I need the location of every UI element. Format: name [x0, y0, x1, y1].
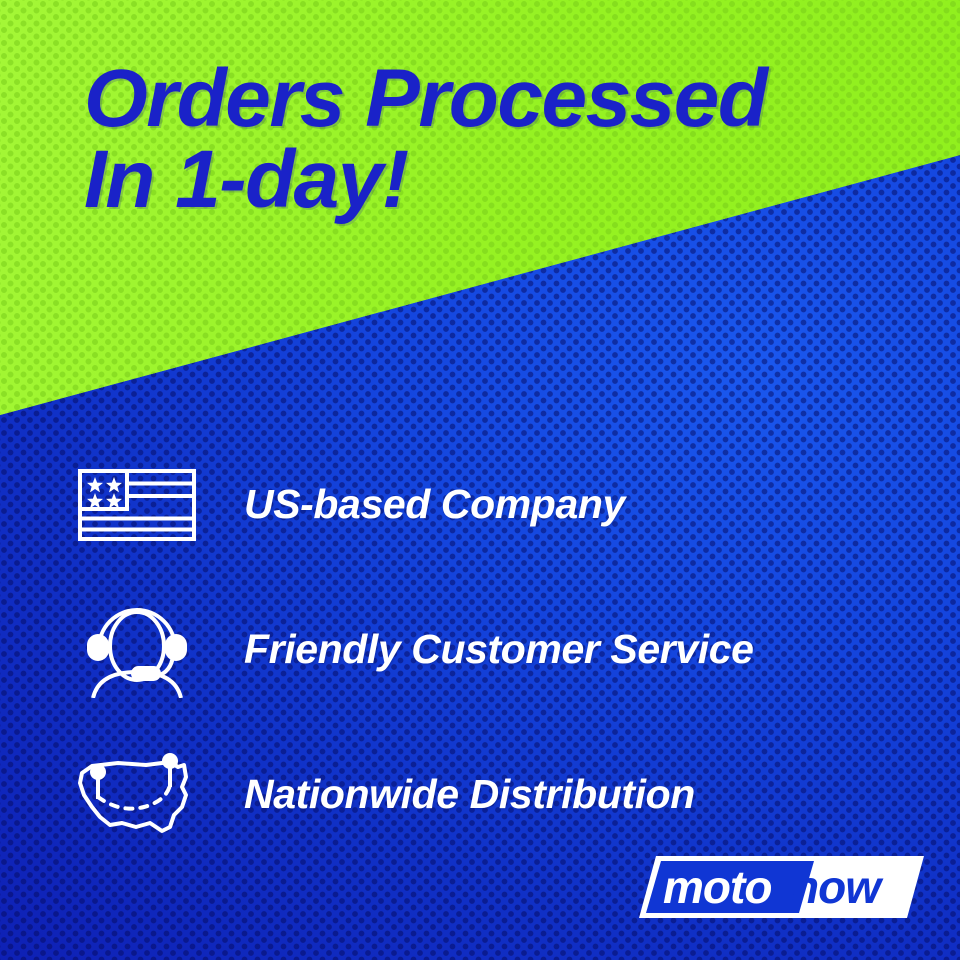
headset-icon	[74, 602, 200, 698]
feature-row: Friendly Customer Service	[0, 577, 960, 722]
us-map-pins-icon	[74, 753, 200, 837]
promo-banner: Orders Processed In 1-day!	[0, 0, 960, 960]
feature-label: US-based Company	[244, 481, 625, 528]
us-flag-icon	[74, 469, 200, 541]
headline: Orders Processed In 1-day!	[84, 58, 914, 220]
feature-label: Friendly Customer Service	[244, 626, 754, 673]
feature-row: Nationwide Distribution	[0, 722, 960, 867]
svg-text:moto: moto	[663, 861, 771, 913]
svg-text:now: now	[791, 861, 884, 913]
motonow-logo[interactable]: moto now	[639, 852, 924, 922]
feature-label: Nationwide Distribution	[244, 771, 695, 818]
feature-row: US-based Company	[0, 432, 960, 577]
feature-list: US-based Company	[0, 432, 960, 867]
